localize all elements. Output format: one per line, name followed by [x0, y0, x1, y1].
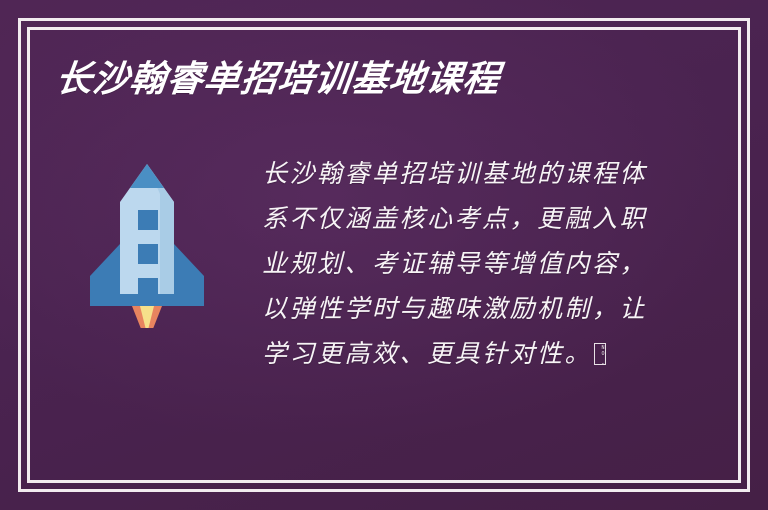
rocket-illustration — [78, 148, 228, 328]
missing-glyph-box: NO GLYPH — [594, 343, 606, 365]
body-line: 业规划、考证辅导等增值内容， — [262, 242, 712, 287]
rocket-icon — [78, 148, 228, 328]
body-line-last: 学习更高效、更具针对性。NO GLYPH — [262, 332, 712, 377]
content-row: 长沙翰睿单招培训基地的课程体 系不仅涵盖核心考点，更融入职 业规划、考证辅导等增… — [56, 140, 712, 450]
body-line: 系不仅涵盖核心考点，更融入职 — [262, 197, 712, 242]
body-line: 长沙翰睿单招培训基地的课程体 — [262, 152, 712, 197]
body-line: 以弹性学时与趣味激励机制，让 — [262, 287, 712, 332]
promo-banner: 长沙翰睿单招培训基地课程 — [0, 0, 768, 510]
page-title: 长沙翰睿单招培训基地课程 — [53, 58, 698, 99]
body-line-text: 学习更高效、更具针对性。 — [262, 341, 592, 368]
body-text-block: 长沙翰睿单招培训基地的课程体 系不仅涵盖核心考点，更融入职 业规划、考证辅导等增… — [262, 140, 712, 377]
